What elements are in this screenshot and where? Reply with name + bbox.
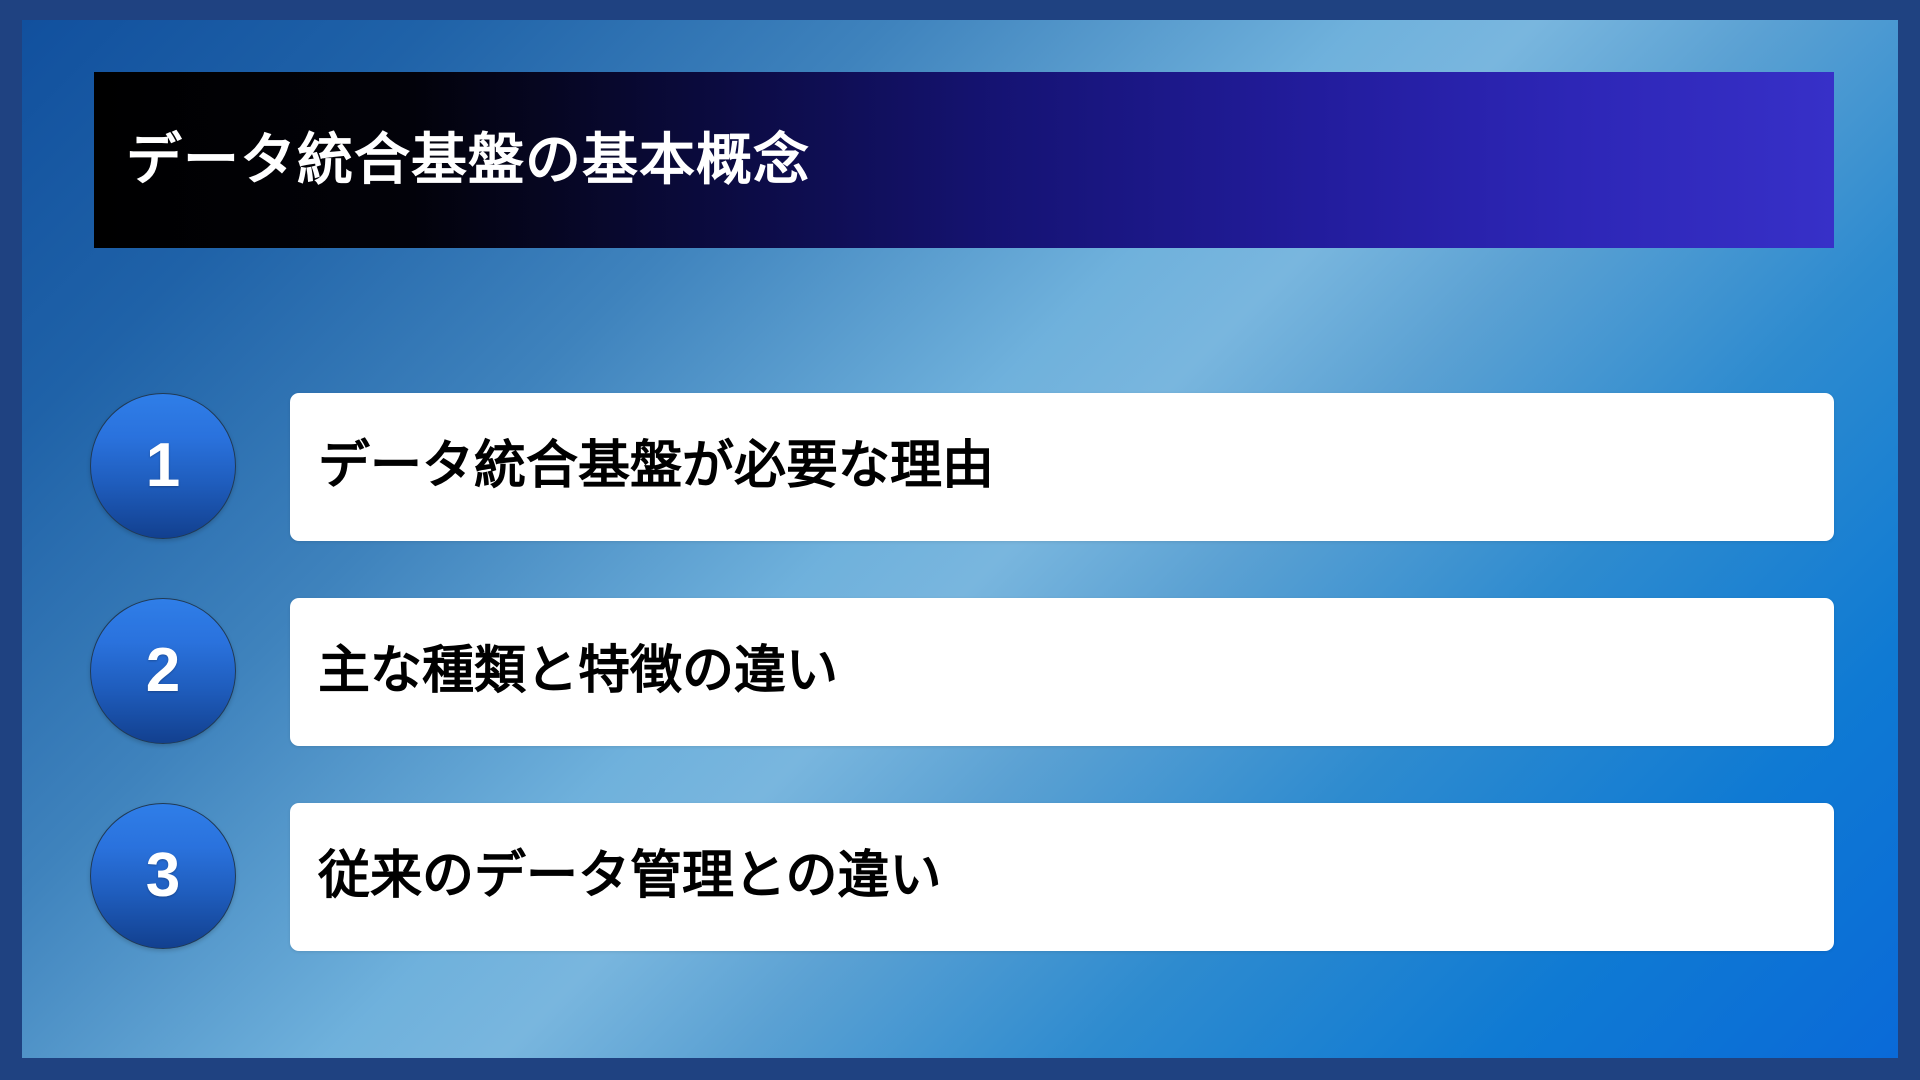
item-card-label: 主な種類と特徴の違い (318, 642, 838, 702)
item-number-label: 1 (146, 435, 180, 497)
slide-canvas: データ統合基盤の基本概念 1 データ統合基盤が必要な理由 2 主な種類と特徴の違… (22, 20, 1898, 1058)
item-number-label: 3 (146, 845, 180, 907)
slide-title-bar: データ統合基盤の基本概念 (94, 72, 1834, 248)
item-card-2[interactable]: 主な種類と特徴の違い (290, 598, 1834, 746)
page-title: データ統合基盤の基本概念 (126, 129, 810, 191)
item-card-3[interactable]: 従来のデータ管理との違い (290, 803, 1834, 951)
item-card-1[interactable]: データ統合基盤が必要な理由 (290, 393, 1834, 541)
item-number-badge-3: 3 (90, 803, 236, 949)
item-number-badge-1: 1 (90, 393, 236, 539)
item-card-label: データ統合基盤が必要な理由 (318, 437, 994, 497)
list-item[interactable]: 3 従来のデータ管理との違い (22, 783, 1898, 931)
slide-root: データ統合基盤の基本概念 1 データ統合基盤が必要な理由 2 主な種類と特徴の違… (0, 0, 1920, 1080)
item-number-badge-2: 2 (90, 598, 236, 744)
item-card-label: 従来のデータ管理との違い (318, 847, 941, 907)
list-item[interactable]: 2 主な種類と特徴の違い (22, 578, 1898, 726)
item-number-label: 2 (146, 640, 180, 702)
list-item[interactable]: 1 データ統合基盤が必要な理由 (22, 373, 1898, 521)
